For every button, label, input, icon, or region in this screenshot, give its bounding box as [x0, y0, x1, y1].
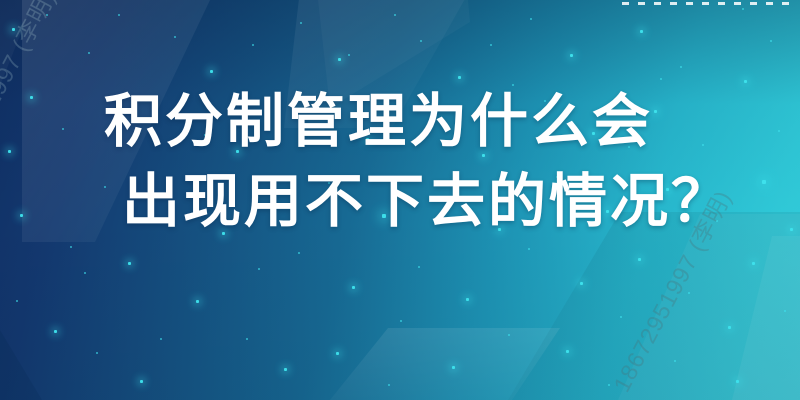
headline-line-1: 积分制管理为什么会	[104, 82, 744, 162]
headline-line-2: 出现用不下去的情况？	[104, 162, 744, 242]
promo-banner: 18672951997 (李明) 18672951997 (李明) 积分制管理为…	[0, 0, 800, 400]
page-title: 积分制管理为什么会 出现用不下去的情况？	[104, 82, 744, 242]
dashed-rule-icon	[622, 2, 790, 5]
